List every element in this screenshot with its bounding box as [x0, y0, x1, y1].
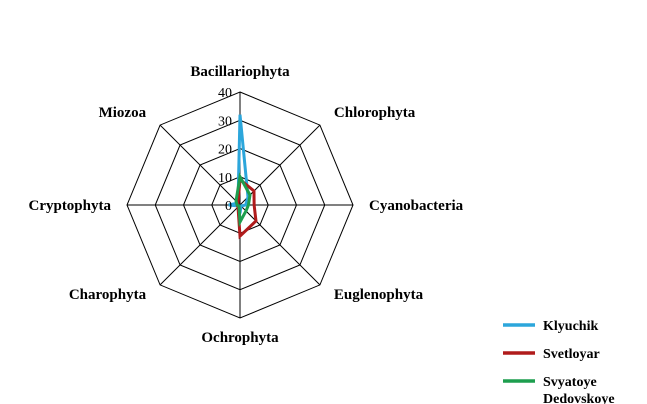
legend-label-svetloyar: Svetloyar — [543, 347, 600, 362]
category-label-cryptophyta: Cryptophyta — [28, 198, 111, 214]
legend-label-svyatoye-dedovskoye-line2: Dedovskoye — [543, 392, 615, 404]
category-label-bacillariophyta: Bacillariophyta — [190, 64, 290, 80]
category-label-chlorophyta: Chlorophyta — [334, 105, 416, 121]
radial-tick-20: 20 — [218, 143, 232, 158]
radar-chart-svg: 010203040 BacillariophytaChlorophytaCyan… — [0, 0, 647, 404]
legend-label-svyatoye-dedovskoye-line1: Svyatoye — [543, 375, 597, 390]
radial-tick-30: 30 — [218, 114, 232, 129]
category-label-ochrophyta: Ochrophyta — [201, 330, 279, 346]
radial-tick-10: 10 — [218, 171, 232, 186]
chart-legend: KlyuchikSvetloyarSvyatoyeDedovskoye — [503, 319, 615, 404]
radial-tick-0: 0 — [225, 199, 232, 214]
radar-chart-container: 010203040 BacillariophytaChlorophytaCyan… — [0, 0, 647, 404]
category-label-charophyta: Charophyta — [69, 287, 147, 303]
radial-tick-40: 40 — [218, 86, 232, 101]
category-label-cyanobacteria: Cyanobacteria — [369, 198, 464, 214]
category-label-euglenophyta: Euglenophyta — [334, 287, 424, 303]
category-label-miozoa: Miozoa — [99, 105, 147, 121]
radar-series-group — [229, 115, 256, 236]
legend-label-klyuchik: Klyuchik — [543, 319, 598, 334]
